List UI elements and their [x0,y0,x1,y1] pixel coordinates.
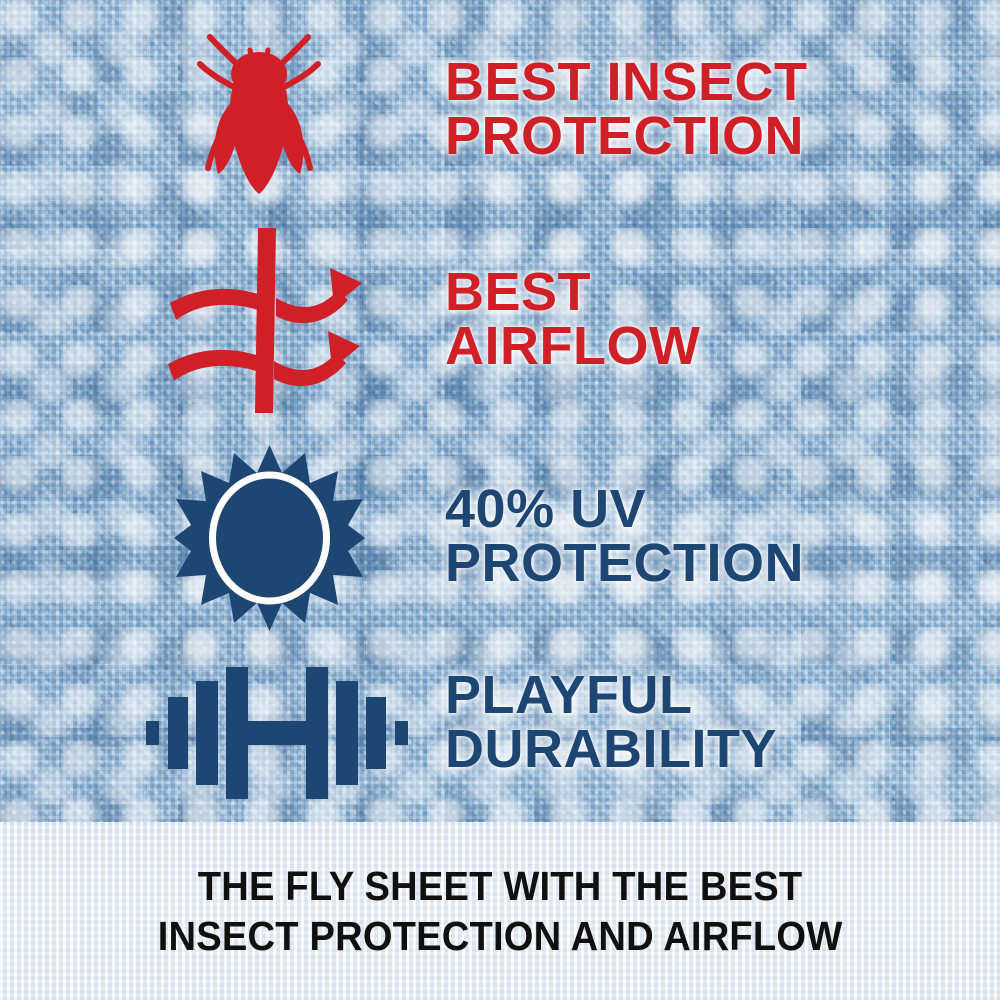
feature-line-1: PLAYFUL [445,668,777,722]
sun-uv-icon [172,443,367,633]
caption-line-2: INSECT PROTECTION AND AIRFLOW [158,911,843,961]
feature-line-2: DURABILITY [445,722,777,776]
feature-row-airflow: BEST AIRFLOW [0,225,1000,415]
feature-row-insect-protection: BEST INSECT PROTECTION [0,20,1000,210]
airflow-arrows-through-barrier-icon [162,228,382,413]
feature-text-uv-protection: 40% UV PROTECTION [445,482,804,590]
feature-line-2: PROTECTION [445,109,808,163]
feature-row-uv-protection: 40% UV PROTECTION [0,440,1000,635]
feature-text-insect-protection: BEST INSECT PROTECTION [445,55,808,163]
feature-text-airflow: BEST AIRFLOW [445,265,700,373]
caption-panel: THE FLY SHEET WITH THE BEST INSECT PROTE… [0,822,1000,1000]
feature-line-1: 40% UV [445,482,804,536]
feature-line-2: AIRFLOW [445,319,700,373]
caption-line-1: THE FLY SHEET WITH THE BEST [198,861,803,911]
fly-icon [184,28,334,203]
feature-line-1: BEST INSECT [445,55,808,109]
product-feature-poster: BEST INSECT PROTECTION [0,0,1000,1000]
feature-line-2: PROTECTION [445,536,804,590]
feature-row-durability: PLAYFUL DURABILITY [0,650,1000,815]
feature-text-durability: PLAYFUL DURABILITY [445,668,777,776]
feature-line-1: BEST [445,265,700,319]
dumbbell-icon [146,663,408,803]
